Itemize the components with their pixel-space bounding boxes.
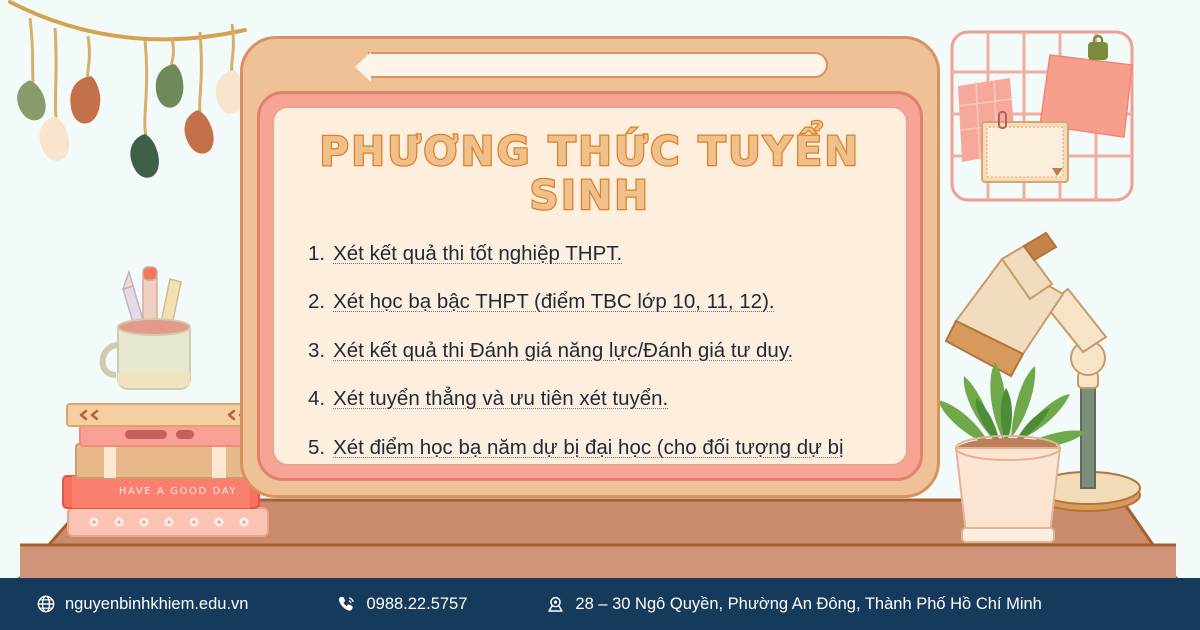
- footer-website[interactable]: nguyenbinhkhiem.edu.vn: [36, 594, 248, 614]
- garland-leaf: [37, 115, 71, 163]
- list-item-number: 2.: [308, 288, 325, 315]
- admission-methods-list: 1. Xét kết quả thi tốt nghiệp THPT. 2. X…: [308, 240, 872, 466]
- list-item: 1. Xét kết quả thi tốt nghiệp THPT.: [308, 240, 872, 267]
- list-item-number: 1.: [308, 240, 325, 267]
- list-item-number: 4.: [308, 385, 325, 412]
- pencil-mug: [103, 267, 190, 389]
- succulent-leaves: [938, 362, 1086, 447]
- globe-icon: [36, 594, 56, 614]
- footer-address[interactable]: 28 – 30 Ngô Quyền, Phường An Đông, Thành…: [545, 594, 1041, 615]
- page-title: PHƯƠNG THỨC TUYỂN SINH: [274, 130, 906, 218]
- list-item-text: Xét tuyển thẳng và ưu tiên xét tuyển.: [333, 385, 872, 412]
- pencils: [123, 267, 181, 337]
- pinned-photo-card: [1040, 36, 1132, 137]
- list-item: 3. Xét kết quả thi Đánh giá năng lực/Đán…: [308, 337, 872, 364]
- footer-address-text: 28 – 30 Ngô Quyền, Phường An Đông, Thành…: [575, 595, 1041, 614]
- list-item-text: Xét kết quả thi Đánh giá năng lực/Đánh g…: [333, 337, 872, 364]
- memo-note-card: [982, 112, 1068, 182]
- tablet-bezel: PHƯƠNG THỨC TUYỂN SINH 1. Xét kết quả th…: [257, 91, 923, 481]
- wire-grid-board: [952, 32, 1132, 200]
- list-item: 4. Xét tuyển thẳng và ưu tiên xét tuyển.: [308, 385, 872, 412]
- list-item: 2. Xét học bạ bậc THPT (điểm TBC lớp 10,…: [308, 288, 872, 315]
- garland-leaf: [153, 62, 187, 109]
- list-item-text: Xét kết quả thi tốt nghiệp THPT.: [333, 240, 872, 267]
- location-pin-icon: [545, 594, 566, 615]
- list-item-text: Xét điểm học bạ năm dự bị đại học (cho đ…: [333, 434, 872, 466]
- tablet-screen: PHƯƠNG THỨC TUYỂN SINH 1. Xét kết quả th…: [272, 106, 908, 466]
- contact-footer: nguyenbinhkhiem.edu.vn 0988.22.5757 28 –…: [0, 578, 1200, 630]
- stylus-pen: [368, 52, 828, 78]
- list-item-text: Xét học bạ bậc THPT (điểm TBC lớp 10, 11…: [333, 288, 872, 315]
- desk: [20, 500, 1176, 578]
- list-item-number: 5.: [308, 434, 325, 466]
- garland-leaf: [66, 73, 104, 125]
- tablet-device: PHƯƠNG THỨC TUYỂN SINH 1. Xét kết quả th…: [240, 36, 940, 498]
- desk-lamp: [946, 233, 1140, 511]
- garland-decoration: [10, 2, 246, 179]
- list-item: 5. Xét điểm học bạ năm dự bị đại học (ch…: [308, 434, 872, 466]
- footer-website-text: nguyenbinhkhiem.edu.vn: [65, 595, 248, 614]
- phone-ringing-icon: [336, 594, 357, 615]
- garland-leaf: [14, 78, 49, 123]
- garland-leaf: [129, 133, 160, 179]
- checkered-paper: [958, 78, 1016, 162]
- footer-phone[interactable]: 0988.22.5757: [336, 594, 467, 615]
- garland-leaf: [182, 108, 216, 155]
- poster-canvas: PHƯƠNG THỨC TUYỂN SINH 1. Xét kết quả th…: [0, 0, 1200, 630]
- potted-plant: [938, 362, 1086, 542]
- book-cover-label: HAVE A GOOD DAY: [98, 486, 258, 497]
- footer-phone-text: 0988.22.5757: [366, 595, 467, 614]
- list-item-number: 3.: [308, 337, 325, 364]
